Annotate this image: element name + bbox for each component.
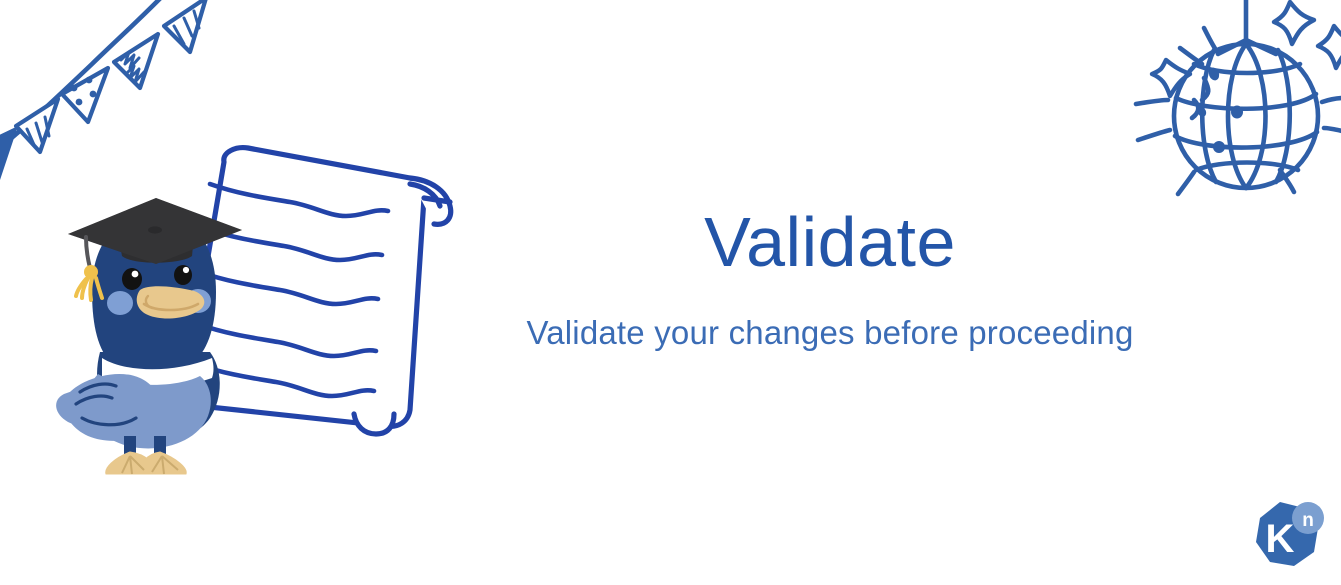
logo-letter-n: n [1302, 510, 1314, 531]
bird-beak [137, 286, 205, 318]
bird-head [92, 214, 216, 362]
bird-eyes [122, 265, 192, 290]
graduation-cap-icon [68, 198, 242, 300]
bird-back [97, 352, 220, 440]
bird-wing [64, 374, 160, 441]
disco-ball-sparkles [1152, 2, 1341, 96]
bird-tail [56, 382, 114, 426]
bird-belly [86, 374, 211, 448]
bird-cheek-right [185, 289, 211, 313]
bunting-flag-zigzag [114, 34, 158, 88]
disco-ball-mirror-dots [1196, 66, 1243, 153]
page-subtitle: Validate your changes before proceeding [460, 313, 1200, 353]
kn-logo[interactable]: K n [1250, 500, 1328, 572]
bunting-flag-solid-right [164, 0, 206, 52]
slide-canvas: Validate Validate your changes before pr… [0, 0, 1341, 585]
bunting-flag-dots [62, 68, 108, 122]
page-title: Validate [460, 205, 1200, 281]
bird-feet [106, 452, 186, 474]
party-bunting-icon [0, 0, 227, 180]
bird-cheek-left [107, 291, 133, 315]
bird-collar [102, 358, 214, 388]
diploma-scroll-icon [178, 138, 468, 456]
bird-foot-lines [122, 456, 178, 474]
bird-mascot-graduate [52, 186, 257, 476]
bunting-flag-stripes [16, 99, 58, 152]
bunting-flag-solid-left [0, 126, 18, 180]
logo-letter-k: K [1266, 517, 1295, 561]
disco-ball-rays [1136, 28, 1341, 194]
title-block: Validate Validate your changes before pr… [460, 205, 1200, 352]
disco-ball-icon [1118, 0, 1341, 229]
bird-wing-feather-lines [76, 384, 136, 425]
scroll-text-lines [196, 184, 388, 396]
bird-legs [124, 436, 166, 456]
